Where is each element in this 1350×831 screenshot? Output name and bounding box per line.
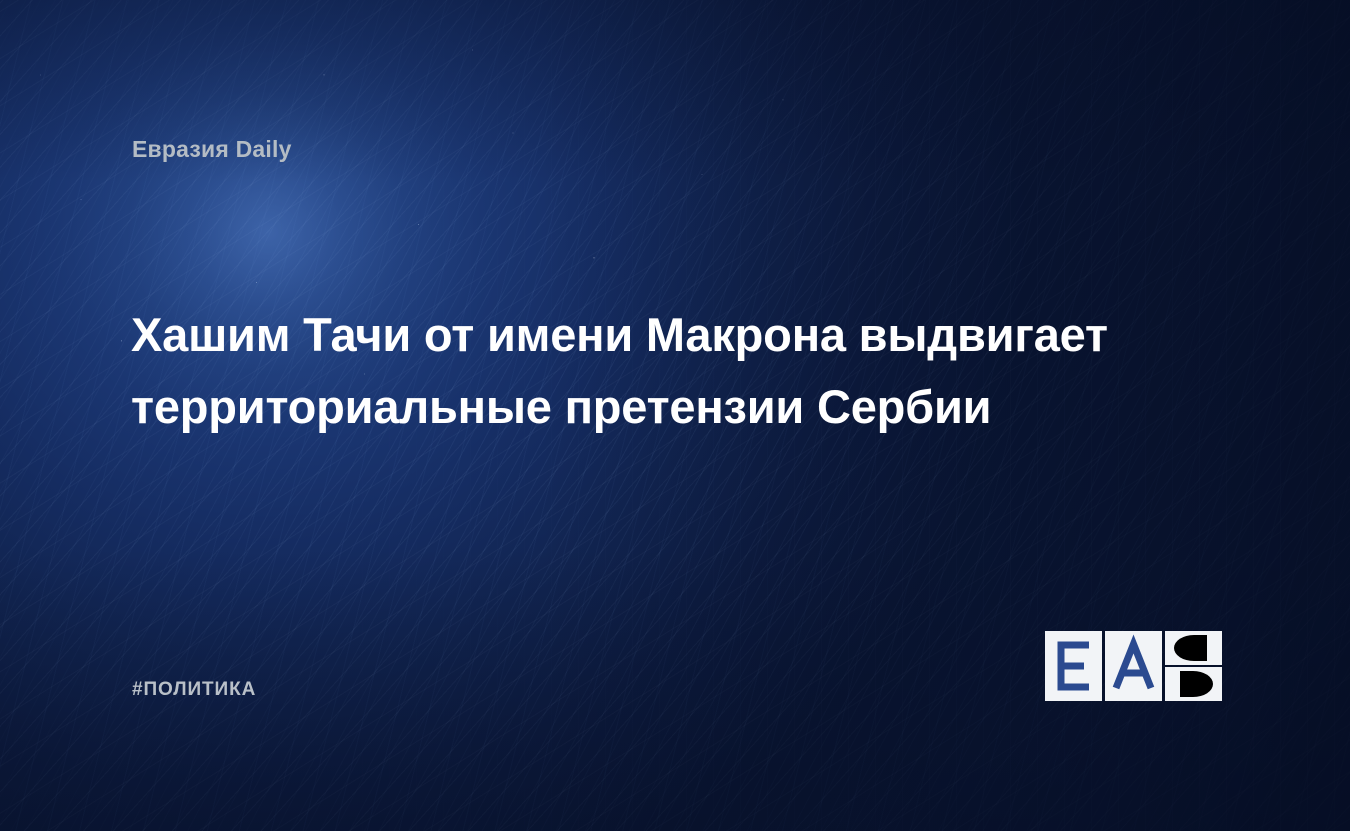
article-headline: Хашим Тачи от имени Макрона выдвигает те… <box>131 299 1226 443</box>
logo-letter-d-icon <box>1165 667 1222 701</box>
logo-letter-a-icon <box>1105 631 1162 701</box>
logo-tile-e <box>1045 631 1102 701</box>
eadaily-logo <box>1045 631 1223 701</box>
logo-tile-a <box>1105 631 1162 701</box>
logo-tile-d-stack <box>1165 631 1222 701</box>
logo-letter-e-icon <box>1045 631 1102 701</box>
logo-letter-d-rotated-icon <box>1165 631 1222 665</box>
cover-content: Евразия Daily Хашим Тачи от имени Макрон… <box>0 0 1350 831</box>
logo-tile-d-bottom <box>1165 667 1222 701</box>
article-cover-card: Евразия Daily Хашим Тачи от имени Макрон… <box>0 0 1350 831</box>
logo-tile-d-top <box>1165 631 1222 665</box>
category-tag-politics: #ПОЛИТИКА <box>132 679 256 701</box>
publication-brand: Евразия Daily <box>132 136 292 163</box>
